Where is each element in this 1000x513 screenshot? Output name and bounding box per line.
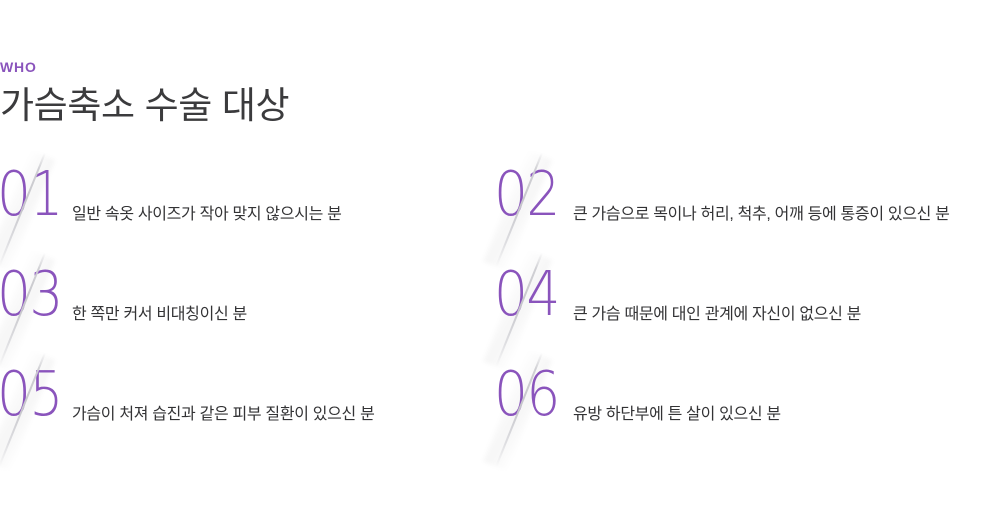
- section-header: WHO 가슴축소 수술 대상: [0, 60, 520, 127]
- candidate-row: 03 한 쪽만 커서 비대칭이신 분 04 큰 가슴 때문에 대인 관계에 자신…: [0, 263, 1000, 363]
- list-item-label: 큰 가슴 때문에 대인 관계에 자신이 없으신 분: [573, 263, 861, 365]
- list-item-number: 01: [0, 163, 62, 224]
- list-item-05: 05 가슴이 처져 습진과 같은 피부 질환이 있으신 분: [0, 363, 490, 463]
- list-item-label: 큰 가슴으로 목이나 허리, 척추, 어깨 등에 통증이 있으신 분: [573, 163, 950, 265]
- list-item-label: 가슴이 처져 습진과 같은 피부 질환이 있으신 분: [72, 363, 374, 465]
- candidate-list: 01 일반 속옷 사이즈가 작아 맞지 않으시는 분 02 큰 가슴으로 목이나…: [0, 163, 1000, 463]
- list-item-02: 02 큰 가슴으로 목이나 허리, 척추, 어깨 등에 통증이 있으신 분: [497, 163, 1000, 263]
- candidate-row: 01 일반 속옷 사이즈가 작아 맞지 않으시는 분 02 큰 가슴으로 목이나…: [0, 163, 1000, 263]
- list-item-03: 03 한 쪽만 커서 비대칭이신 분: [0, 263, 490, 363]
- who-section: WHO 가슴축소 수술 대상 01 일반 속옷 사이즈가 작아 맞지 않으시는 …: [0, 0, 1000, 513]
- list-item-number: 05: [0, 363, 62, 424]
- list-item-label: 유방 하단부에 튼 살이 있으신 분: [573, 363, 781, 465]
- list-item-number: 03: [0, 263, 62, 324]
- list-item-number-badge: 06: [497, 363, 585, 463]
- page-title: 가슴축소 수술 대상: [0, 86, 520, 127]
- list-item-04: 04 큰 가슴 때문에 대인 관계에 자신이 없으신 분: [497, 263, 1000, 363]
- list-item-label: 한 쪽만 커서 비대칭이신 분: [72, 263, 247, 365]
- list-item-01: 01 일반 속옷 사이즈가 작아 맞지 않으시는 분: [0, 163, 490, 263]
- list-item-number-badge: 02: [497, 163, 585, 263]
- candidate-row: 05 가슴이 처져 습진과 같은 피부 질환이 있으신 분 06 유방 하단부에…: [0, 363, 1000, 463]
- list-item-number-badge: 04: [497, 263, 585, 363]
- list-item-06: 06 유방 하단부에 튼 살이 있으신 분: [497, 363, 1000, 463]
- section-eyebrow-label: WHO: [0, 60, 520, 74]
- list-item-label: 일반 속옷 사이즈가 작아 맞지 않으시는 분: [72, 163, 342, 265]
